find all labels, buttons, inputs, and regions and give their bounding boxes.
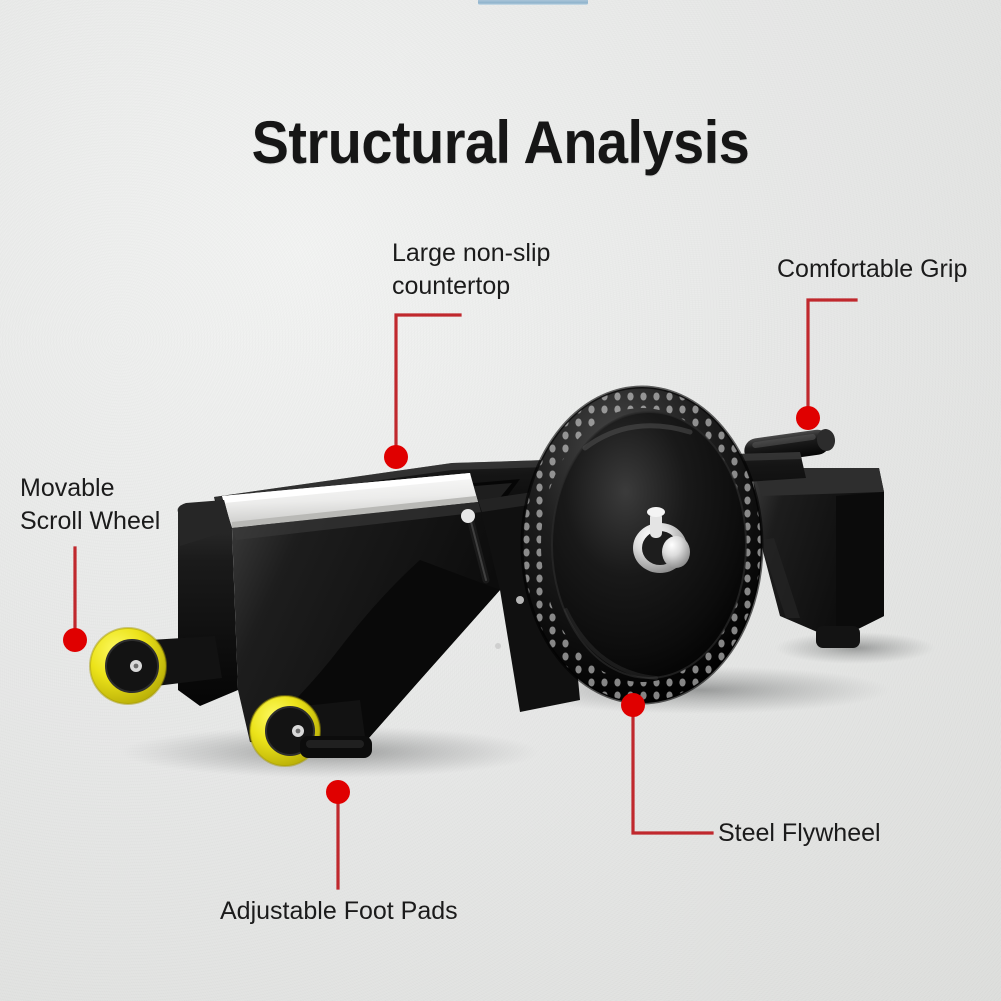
callout-label-scroll-wheel: Movable Scroll Wheel bbox=[20, 472, 160, 538]
callout-label-grip: Comfortable Grip bbox=[777, 253, 967, 286]
callout-label-foot-pads: Adjustable Foot Pads bbox=[220, 895, 458, 928]
right-foot-pad bbox=[816, 626, 860, 648]
adjustment-knob bbox=[461, 509, 475, 523]
steel-flywheel bbox=[500, 370, 800, 720]
product-annotation-figure: Structural Analysis bbox=[0, 0, 1001, 1001]
callout-label-countertop: Large non-slip countertop bbox=[392, 237, 550, 303]
callout-label-flywheel: Steel Flywheel bbox=[718, 817, 881, 850]
adjustable-foot-pads bbox=[300, 736, 372, 758]
